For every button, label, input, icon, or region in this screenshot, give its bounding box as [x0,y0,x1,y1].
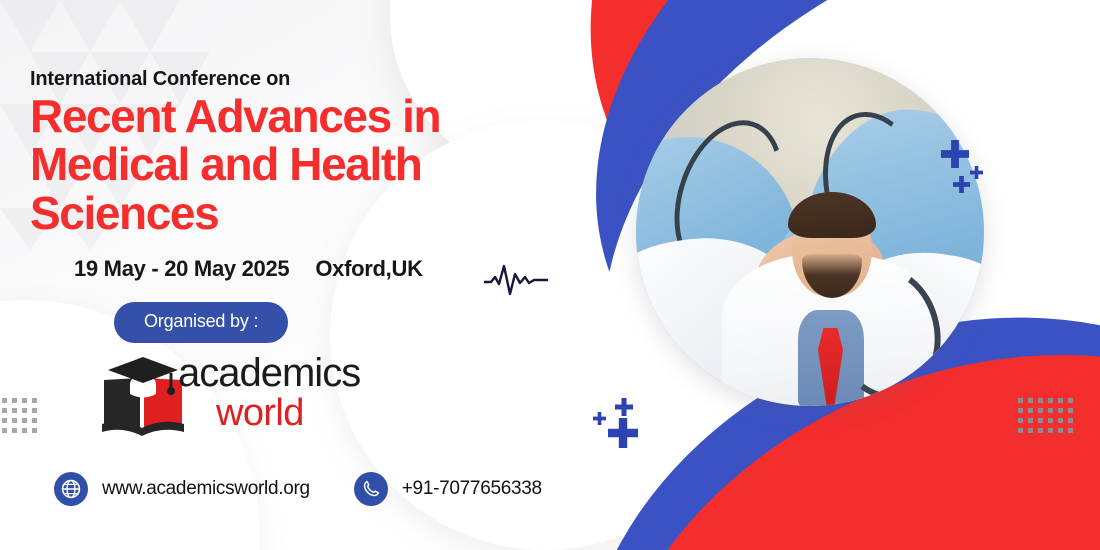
contact-bar: www.academicsworld.org +91-7077656338 [54,472,542,506]
event-meta: 19 May - 20 May 2025 Oxford,UK [74,256,423,282]
medical-team-photo [636,58,984,406]
phone-icon [354,472,388,506]
globe-icon [54,472,88,506]
academics-world-logo: academics world [100,348,370,448]
page-title: Recent Advances in Medical and Health Sc… [30,92,440,237]
contact-phone[interactable]: +91-7077656338 [354,472,542,506]
conference-banner: International Conference on Recent Advan… [0,0,1100,550]
title-line-1: Recent Advances in [30,92,440,140]
dot-grid-left-edge [0,398,37,433]
heartbeat-line-icon [484,262,548,298]
event-dates: 19 May - 20 May 2025 [74,256,289,282]
medical-cross-icon [593,412,606,425]
logo-wordmark: academics world [178,354,360,432]
logo-text-academics: academics [178,354,360,392]
organised-by-badge: Organised by : [114,302,288,343]
event-location: Oxford,UK [315,256,422,282]
contact-website[interactable]: www.academicsworld.org [54,472,310,506]
logo-text-world: world [216,394,360,432]
phone-text: +91-7077656338 [402,478,542,500]
dot-grid-top-right [1018,74,1073,109]
title-line-2: Medical and Health [30,140,440,188]
dot-grid-bottom-right [1018,398,1073,433]
graduation-cap-book-icon [100,354,186,438]
title-line-3: Sciences [30,189,440,237]
conference-kicker: International Conference on [30,68,290,91]
website-text: www.academicsworld.org [102,478,310,500]
